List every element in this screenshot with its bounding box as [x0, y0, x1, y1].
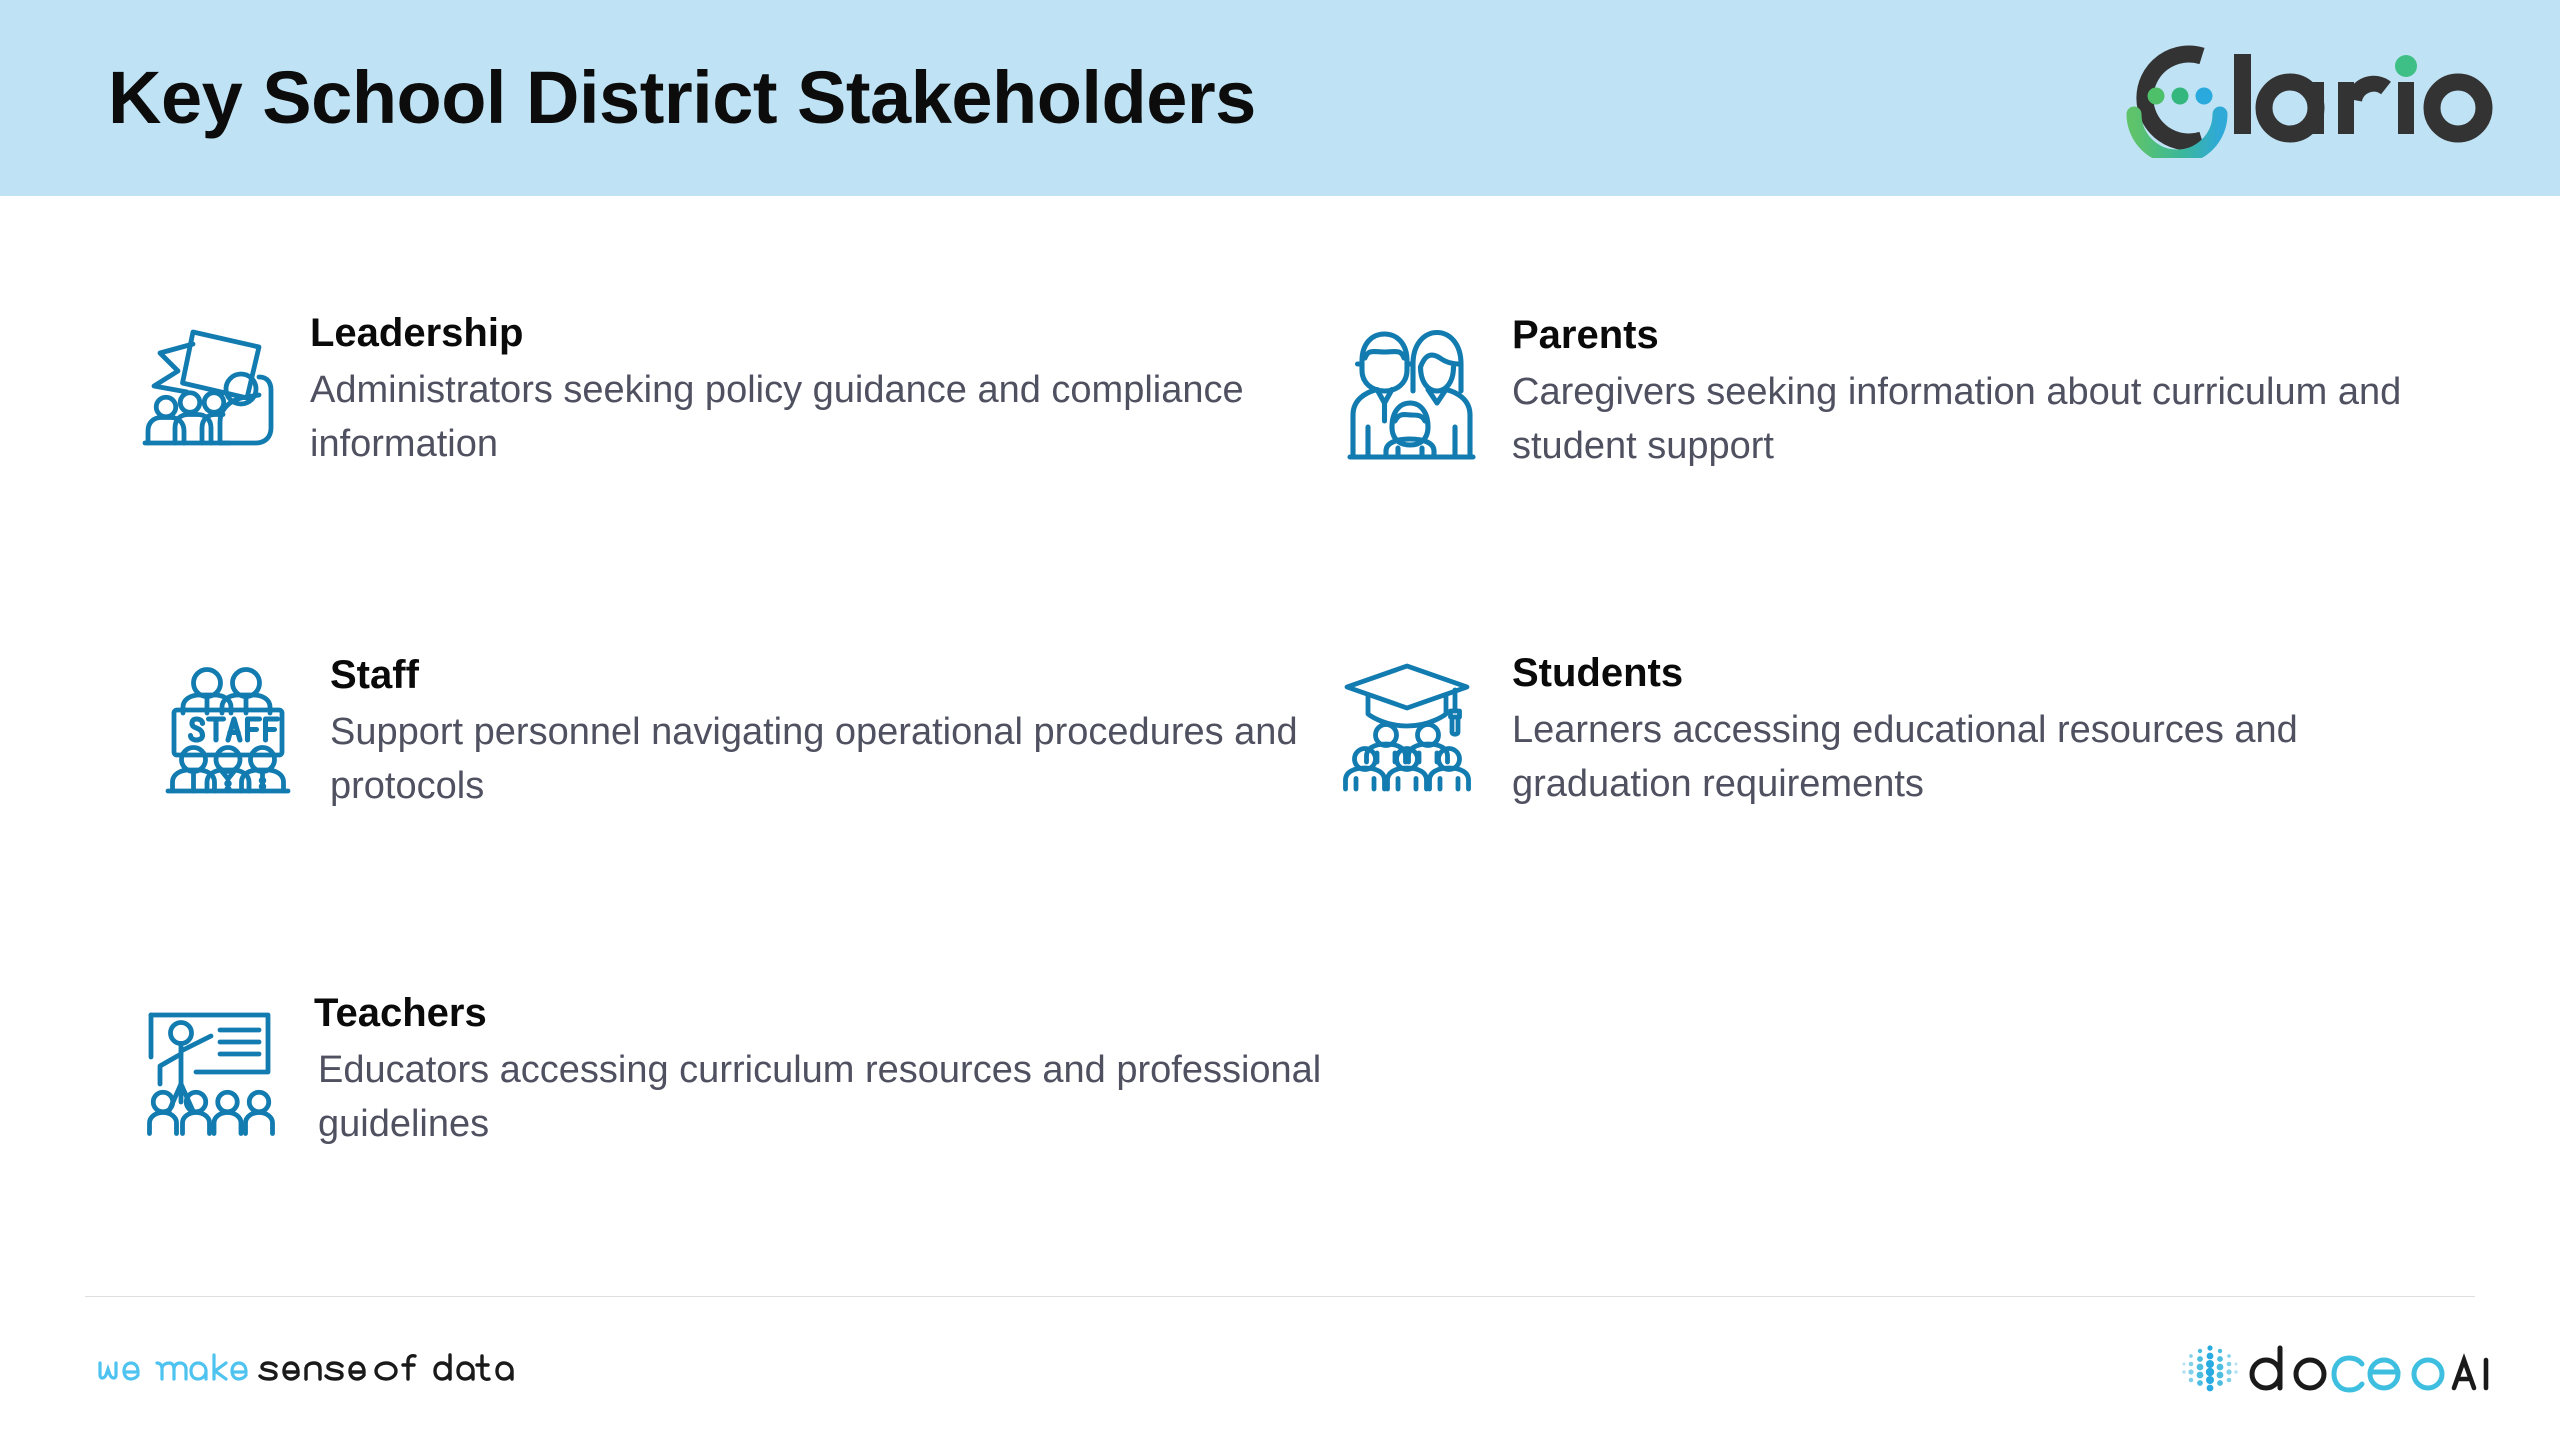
- stakeholders-grid: Leadership Administrators seeking policy…: [0, 196, 2560, 1296]
- stakeholder-item-parents[interactable]: Parents Caregivers seeking information a…: [1330, 308, 2412, 474]
- stakeholder-title: Leadership: [310, 310, 1370, 356]
- doceo-logo-svg: [2176, 1338, 2496, 1402]
- page-header: Key School District Stakeholders: [0, 0, 2560, 196]
- footer-divider: [85, 1296, 2475, 1297]
- clario-logo-svg: [2110, 38, 2510, 158]
- family-parents-child-icon: [1330, 308, 1490, 468]
- teachers-text-block: Teachers Educators accessing curriculum …: [288, 986, 1370, 1152]
- clario-letter-i: [2395, 55, 2417, 134]
- page-title: Key School District Stakeholders: [108, 61, 1256, 135]
- stakeholder-description: Administrators seeking policy guidance a…: [310, 364, 1370, 472]
- clario-letter-r: [2338, 82, 2386, 134]
- doceo-ai-logo: [2176, 1340, 2496, 1400]
- tagline-svg: [94, 1347, 534, 1393]
- stakeholder-item-teachers[interactable]: Teachers Educators accessing curriculum …: [128, 986, 1370, 1152]
- leadership-icon-svg: [133, 311, 283, 461]
- students-icon-svg: [1335, 651, 1485, 801]
- tagline-dark-part: [260, 1355, 512, 1379]
- stakeholder-description: Caregivers seeking information about cur…: [1512, 366, 2412, 474]
- stakeholder-title: Students: [1512, 650, 2412, 696]
- clario-logo: [2110, 33, 2510, 163]
- staff-icon-svg: [153, 653, 303, 803]
- staff-text-block: Staff Support personnel navigating opera…: [308, 648, 1390, 814]
- stakeholder-item-students[interactable]: Students Learners accessing educational …: [1330, 646, 2412, 812]
- page-footer: [0, 1300, 2560, 1440]
- leadership-text-block: Leadership Administrators seeking policy…: [288, 306, 1370, 472]
- clario-i-dot: [2395, 55, 2417, 77]
- parents-icon-svg: [1335, 313, 1485, 463]
- stakeholder-description: Learners accessing educational resources…: [1512, 704, 2412, 812]
- clario-letter-a: [2264, 82, 2324, 134]
- tagline-light-part: [100, 1355, 246, 1379]
- clario-dot-green: [2148, 88, 2165, 105]
- stakeholder-title: Staff: [330, 652, 1390, 698]
- teachers-icon-svg: [133, 991, 283, 1141]
- staff-banner-people-icon: [148, 648, 308, 808]
- clario-dot-blue: [2196, 88, 2213, 105]
- leadership-flag-crowd-icon: [128, 306, 288, 466]
- doceo-wordmark: [2252, 1348, 2442, 1390]
- clario-dot-teal: [2172, 88, 2189, 105]
- stakeholder-title: Teachers: [314, 990, 1370, 1036]
- stakeholder-description: Educators accessing curriculum resources…: [318, 1044, 1370, 1152]
- we-make-sense-of-data-tagline: [94, 1347, 534, 1393]
- stakeholder-description: Support personnel navigating operational…: [330, 706, 1390, 814]
- stakeholder-item-leadership[interactable]: Leadership Administrators seeking policy…: [128, 306, 1370, 472]
- students-text-block: Students Learners accessing educational …: [1490, 646, 2412, 812]
- clario-letter-l: [2234, 54, 2251, 134]
- doceo-ai-text: [2454, 1360, 2486, 1388]
- stakeholder-item-staff[interactable]: Staff Support personnel navigating opera…: [148, 648, 1390, 814]
- clario-letter-o: [2432, 82, 2484, 134]
- stakeholder-title: Parents: [1512, 312, 2412, 358]
- graduation-cap-students-icon: [1330, 646, 1490, 806]
- parents-text-block: Parents Caregivers seeking information a…: [1490, 308, 2412, 474]
- doceo-dot-fan-icon: [2182, 1345, 2238, 1391]
- teacher-whiteboard-class-icon: [128, 986, 288, 1146]
